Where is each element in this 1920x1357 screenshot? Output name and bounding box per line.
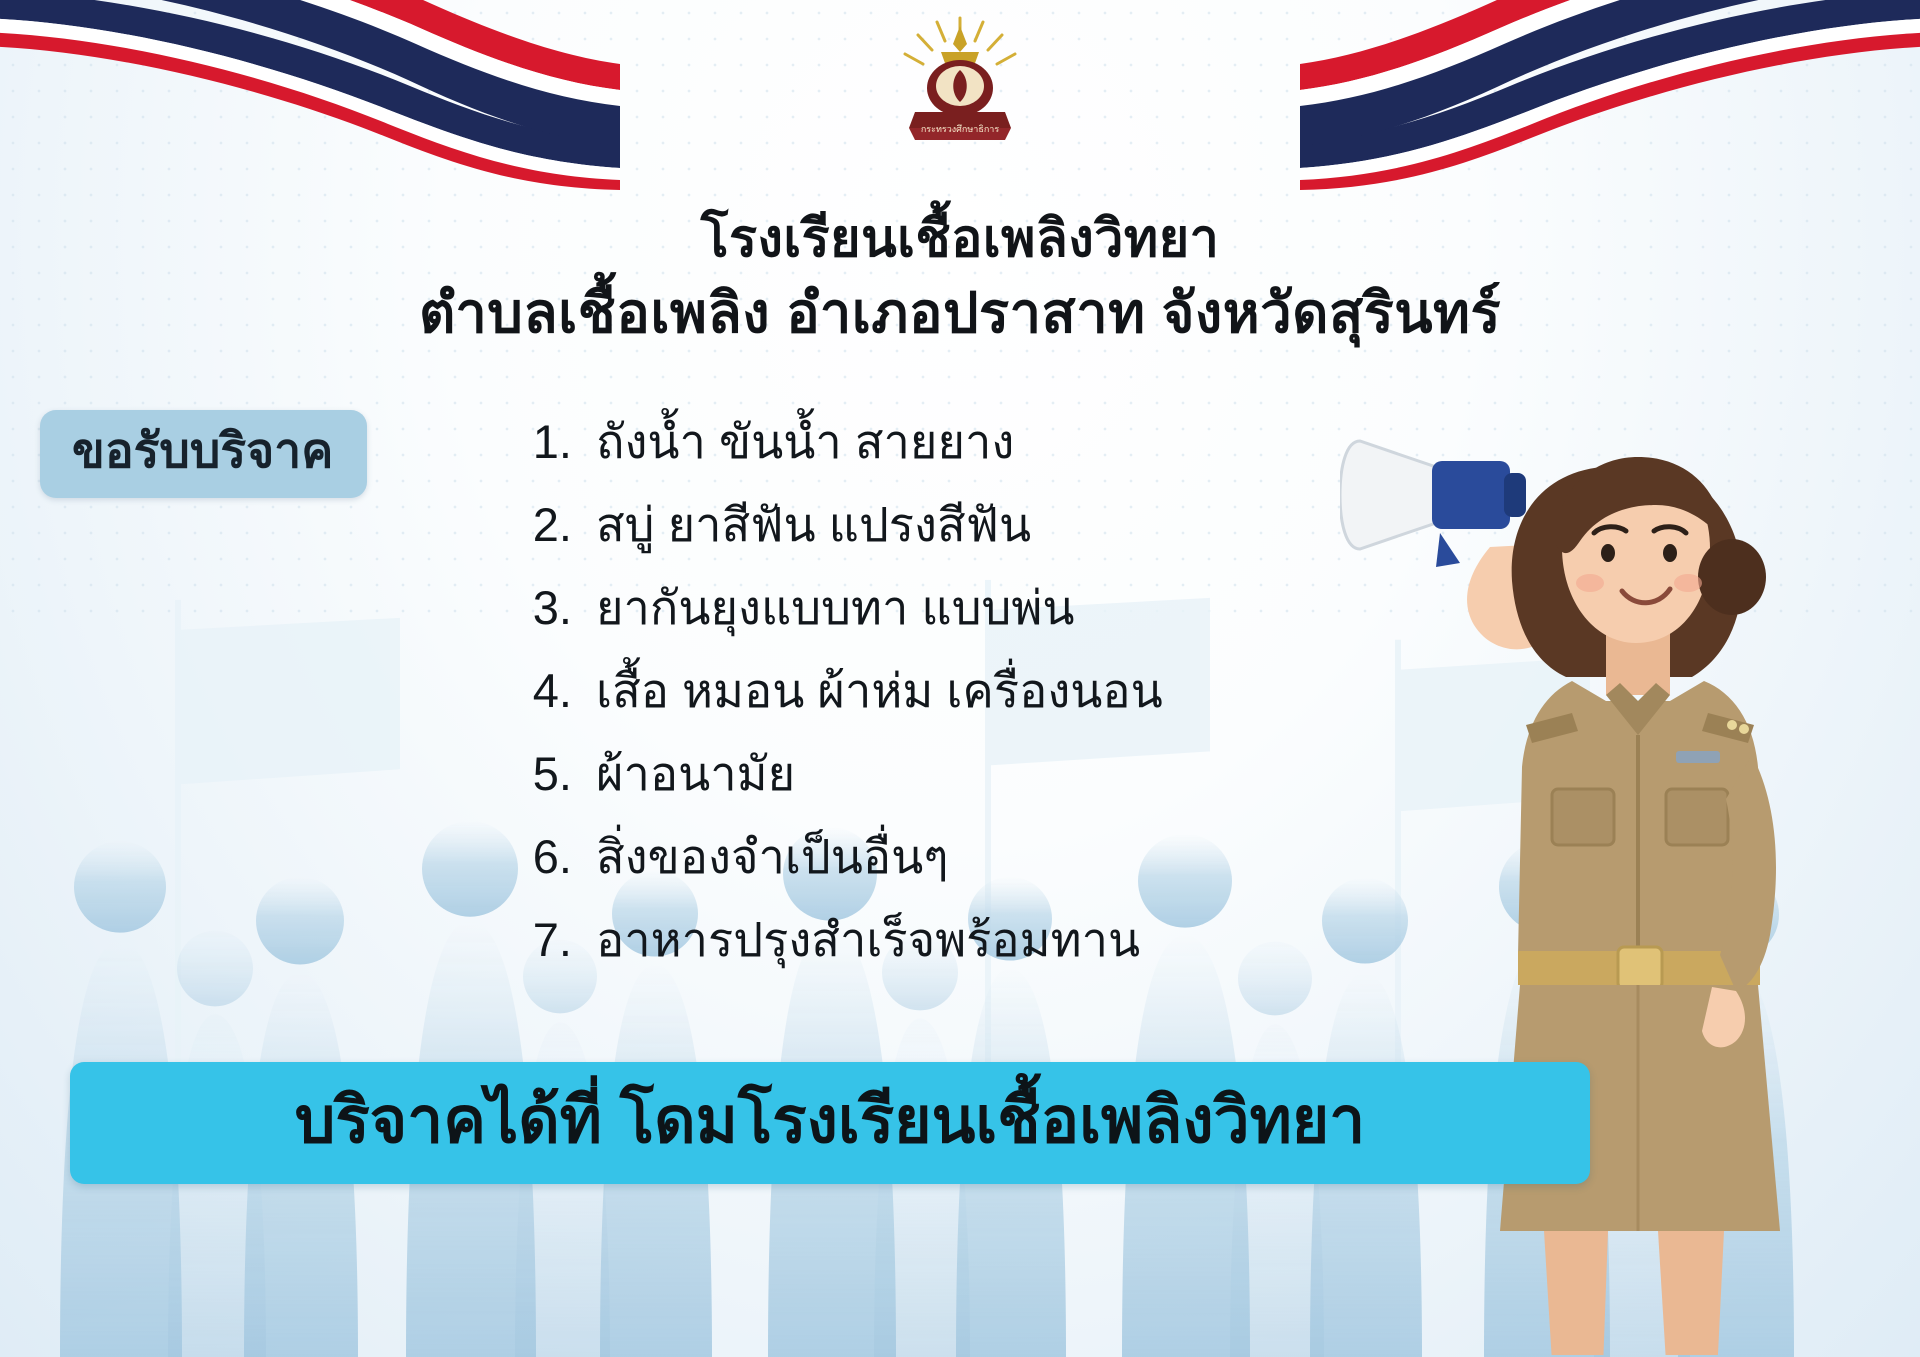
female-officer-with-megaphone-illustration	[1340, 395, 1900, 1355]
neck	[1606, 627, 1670, 695]
thai-flag-ribbon-right-icon	[1300, 0, 1920, 190]
arm-skin	[1467, 545, 1572, 649]
thai-flag-ribbon-left-icon	[0, 0, 620, 190]
donation-items-list: 1. ถังน้ำ ขันน้ำ สายยาง 2. สบู่ ยาสีฟัน …	[500, 418, 1400, 999]
list-item: 2. สบู่ ยาสีฟัน แปรงสีฟัน	[500, 501, 1400, 548]
list-item-number: 2.	[500, 501, 572, 548]
list-item: 1. ถังน้ำ ขันน้ำ สายยาง	[500, 418, 1400, 465]
hair-bun	[1698, 539, 1766, 615]
list-item-label: สบู่ ยาสีฟัน แปรงสีฟัน	[596, 501, 1031, 548]
list-item-number: 1.	[500, 418, 572, 465]
ask-for-donation-badge: ขอรับบริจาค	[40, 410, 367, 498]
donation-poster: กระทรวงศึกษาธิการ โรงเรียนเชื้อเพลิงวิทย…	[0, 0, 1920, 1357]
list-item: 6. สิ่งของจำเป็นอื่นๆ	[500, 833, 1400, 880]
uniform-shirt	[1518, 681, 1760, 955]
left-leg	[1544, 1231, 1608, 1355]
right-hand	[1702, 987, 1745, 1047]
hair-front	[1556, 457, 1724, 553]
list-item: 4. เสื้อ หมอน ผ้าห่ม เครื่องนอน	[500, 667, 1400, 714]
page-title: โรงเรียนเชื้อเพลิงวิทยา	[0, 196, 1920, 279]
list-item: 3. ยากันยุงแบบทา แบบพ่น	[500, 584, 1400, 631]
list-item-label: ถังน้ำ ขันน้ำ สายยาง	[596, 418, 1014, 465]
ministry-emblem-icon: กระทรวงศึกษาธิการ	[885, 8, 1035, 158]
right-sleeve	[1720, 755, 1776, 991]
list-item-number: 7.	[500, 916, 572, 963]
donation-location-banner: บริจาคได้ที่ โดมโรงเรียนเชื้อเพลิงวิทยา	[70, 1062, 1590, 1184]
list-item-number: 5.	[500, 750, 572, 797]
list-item-label: ยากันยุงแบบทา แบบพ่น	[596, 584, 1074, 631]
list-item-number: 4.	[500, 667, 572, 714]
list-item-number: 6.	[500, 833, 572, 880]
list-item-number: 3.	[500, 584, 572, 631]
smile	[1622, 589, 1670, 603]
hair-back	[1512, 461, 1742, 677]
donation-location-text: บริจาคได้ที่ โดมโรงเรียนเชื้อเพลิงวิทยา	[80, 1088, 1580, 1152]
list-item-label: สิ่งของจำเป็นอื่นๆ	[596, 833, 949, 880]
list-item: 5. ผ้าอนามัย	[500, 750, 1400, 797]
belt	[1518, 951, 1760, 985]
face	[1562, 465, 1710, 643]
svg-text:กระทรวงศึกษาธิการ: กระทรวงศึกษาธิการ	[921, 124, 999, 134]
list-item-label: เสื้อ หมอน ผ้าห่ม เครื่องนอน	[596, 667, 1163, 714]
right-leg	[1658, 1231, 1724, 1355]
sleeve	[1536, 596, 1602, 667]
list-item-label: อาหารปรุงสำเร็จพร้อมทาน	[596, 916, 1140, 963]
list-item: 7. อาหารปรุงสำเร็จพร้อมทาน	[500, 916, 1400, 963]
list-item-label: ผ้าอนามัย	[596, 750, 795, 797]
page-subtitle: ตำบลเชื้อเพลิง อำเภอปราสาท จังหวัดสุรินท…	[0, 268, 1920, 357]
